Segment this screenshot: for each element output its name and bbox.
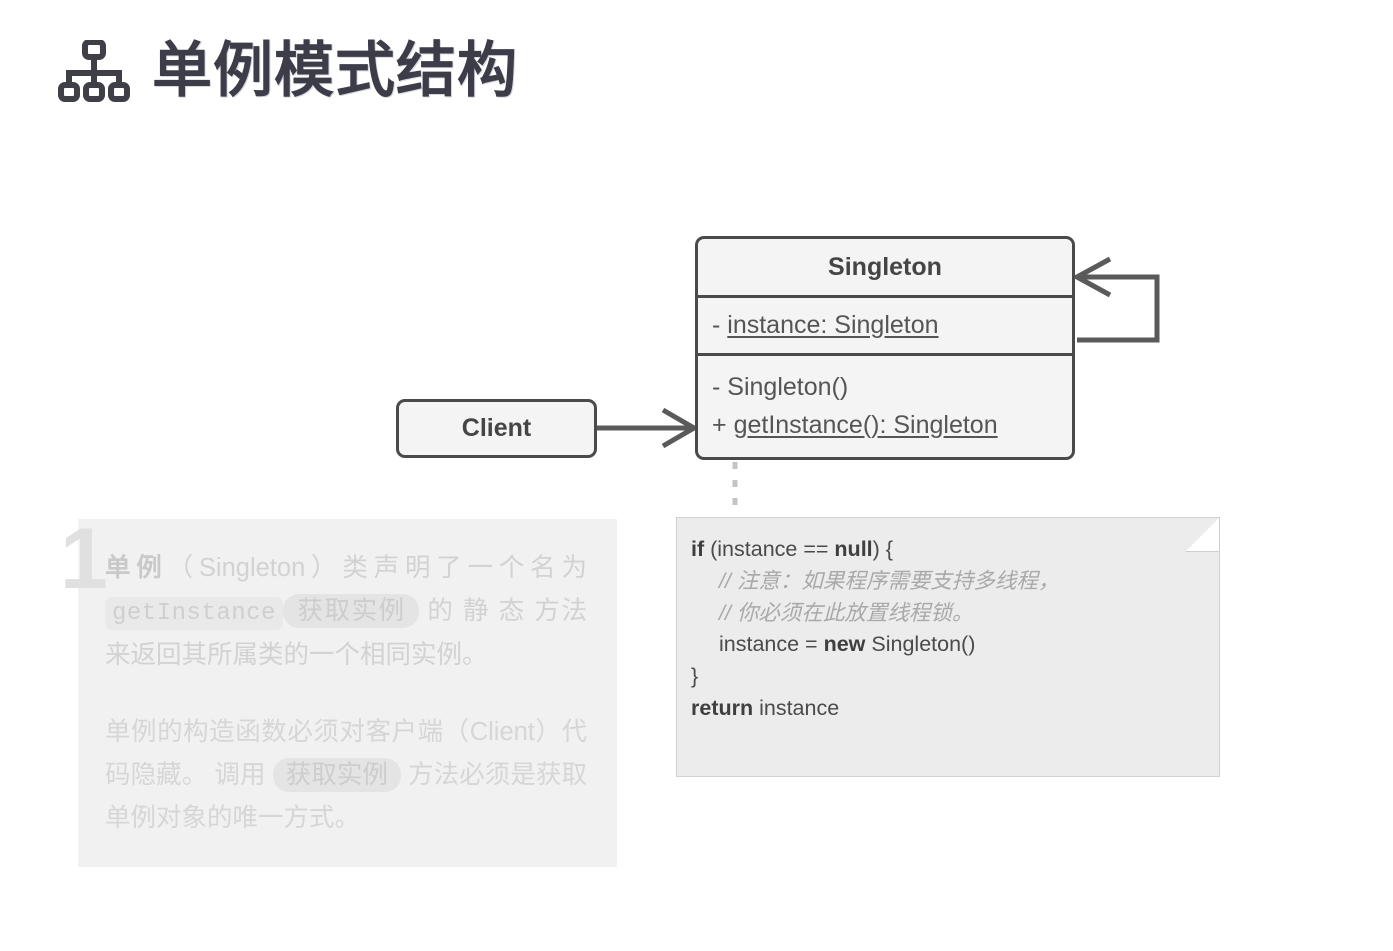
attribute-signature: instance: Singleton <box>727 311 938 339</box>
description-paragraph-1: 单例（Singleton）类声明了一个名为 getInstance获取实例 的 … <box>105 547 587 677</box>
operation-visibility: - <box>712 373 720 401</box>
singleton-operations-compartment: - Singleton() + getInstance(): Singleton <box>698 356 1072 457</box>
code-comment: // 你必须在此放置线程锁。 <box>719 601 973 625</box>
code-line: } <box>691 661 1201 693</box>
operation-signature: getInstance(): Singleton <box>734 411 998 439</box>
code-keyword: return <box>691 696 753 720</box>
uml-class-singleton[interactable]: Singleton - instance: Singleton - Single… <box>695 236 1075 460</box>
operation-visibility: + <box>712 411 727 439</box>
code-keyword: new <box>824 632 866 656</box>
description-text: （Singleton） <box>168 554 343 582</box>
code-comment: // 注意：如果程序需要支持多线程， <box>719 569 1059 593</box>
code-text: instance <box>753 696 839 720</box>
singleton-attributes-compartment: - instance: Singleton <box>698 298 1072 356</box>
code-text: (instance == <box>704 537 834 561</box>
code-keyword: null <box>834 537 872 561</box>
description-step-number: 1 <box>60 516 106 602</box>
uml-class-client[interactable]: Client <box>396 399 597 458</box>
code-text: ) { <box>873 537 893 561</box>
translation-chip: 获取实例 <box>283 594 419 628</box>
inline-code-chip: getInstance <box>105 597 283 630</box>
operation-signature: Singleton() <box>727 373 848 401</box>
code-line: if (instance == null) { <box>691 534 1201 566</box>
code-line: instance = new Singleton() <box>691 629 1201 661</box>
singleton-class-name: Singleton <box>828 253 942 282</box>
code-line: // 你必须在此放置线程锁。 <box>691 598 1201 630</box>
singleton-operation-constructor: - Singleton() <box>712 371 1058 405</box>
translation-chip: 获取实例 <box>273 758 401 792</box>
description-paragraph-2: 单例的构造函数必须对客户端（Client）代码隐藏。 调用 获取实例 方法必须是… <box>105 711 587 839</box>
code-line: return instance <box>691 693 1201 725</box>
code-text: instance = <box>719 632 824 656</box>
singleton-operation-getinstance: + getInstance(): Singleton <box>712 409 1058 443</box>
description-panel: 单例（Singleton）类声明了一个名为 getInstance获取实例 的 … <box>78 519 617 867</box>
description-text: 类声明了一个名为 <box>342 554 587 582</box>
attribute-visibility: - <box>712 311 720 339</box>
sitemap-icon <box>58 40 130 102</box>
code-keyword: if <box>691 537 704 561</box>
description-emphasis: 单例 <box>105 554 168 582</box>
page-title: 单例模式结构 <box>152 41 518 101</box>
code-note-body: if (instance == null) {// 注意：如果程序需要支持多线程… <box>691 534 1201 725</box>
code-text: } <box>691 664 698 688</box>
client-class-name: Client <box>462 414 531 443</box>
singleton-name-compartment: Singleton <box>698 239 1072 298</box>
code-note: if (instance == null) {// 注意：如果程序需要支持多线程… <box>676 517 1220 777</box>
singleton-attribute-instance: - instance: Singleton <box>712 309 1058 343</box>
page-header: 单例模式结构 <box>58 40 518 102</box>
code-line: // 注意：如果程序需要支持多线程， <box>691 566 1201 598</box>
code-text: Singleton() <box>865 632 975 656</box>
